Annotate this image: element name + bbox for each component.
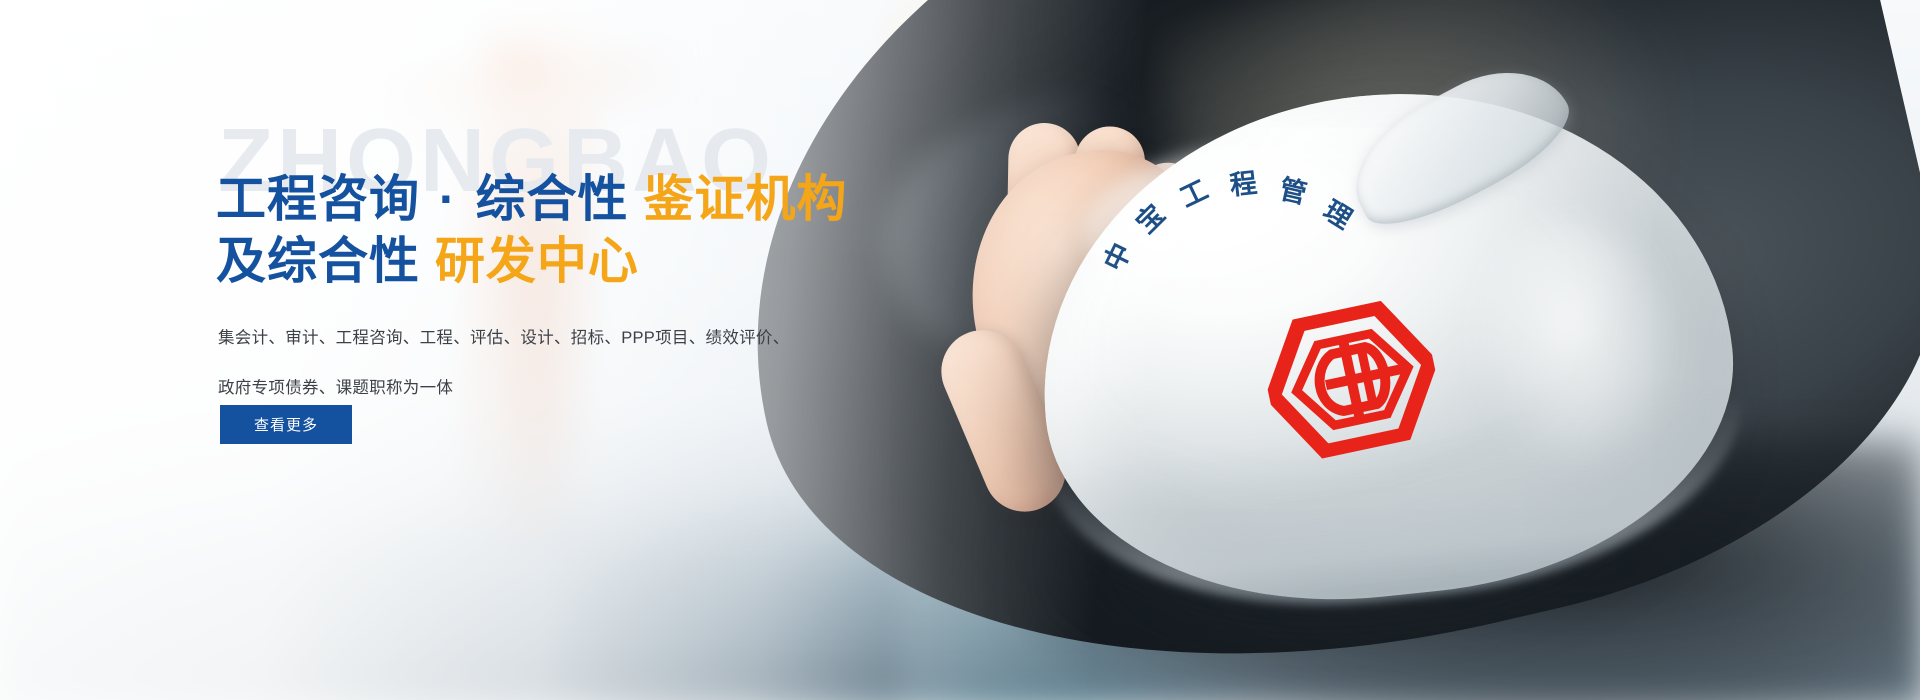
headline-line-1: 工程咨询 · 综合性 鉴证机构 [216, 168, 847, 230]
headline-line1-blue: 工程咨询 [216, 171, 420, 227]
headline-line-2: 及综合性 研发中心 [216, 230, 847, 292]
description-line-1: 集会计、审计、工程咨询、工程、评估、设计、招标、PPP项目、绩效评价、 [218, 313, 818, 363]
view-more-button[interactable]: 查看更多 [220, 405, 352, 444]
banner-description: 集会计、审计、工程咨询、工程、评估、设计、招标、PPP项目、绩效评价、 政府专项… [218, 313, 818, 413]
banner-headline: 工程咨询 · 综合性 鉴证机构 及综合性 研发中心 [216, 168, 847, 292]
headline-line1-orange: 鉴证机构 [643, 171, 847, 227]
headline-line2-blue: 及综合性 [216, 233, 420, 289]
headline-line2-orange: 研发中心 [435, 233, 639, 289]
headline-line1-blue-2: 综合性 [475, 171, 628, 227]
hero-banner: 中宝工程管理 ZHONGBAO [0, 0, 1920, 700]
headline-separator: · [435, 171, 461, 227]
banner-content: ZHONGBAO 工程咨询 · 综合性 鉴证机构 及综合性 研发中心 集会计、审… [0, 0, 1920, 700]
